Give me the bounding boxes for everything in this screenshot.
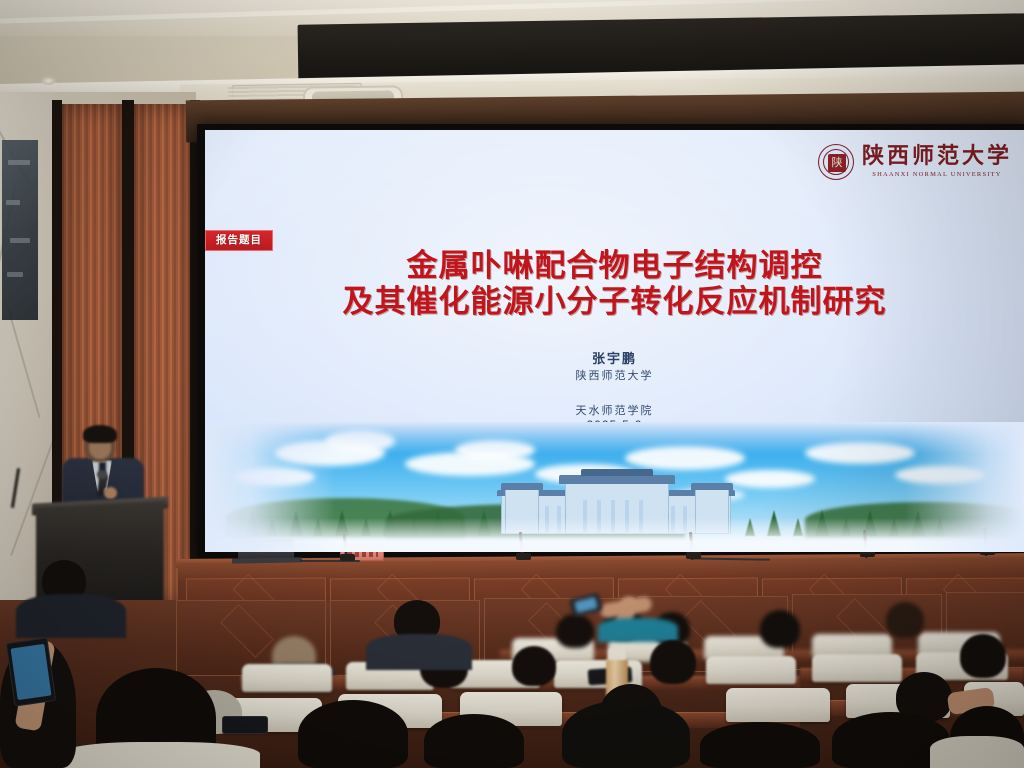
title-line-2: 及其催化能源小分子转化反应机制研究: [205, 284, 1024, 320]
wall-plaque: [2, 140, 38, 320]
audience-head: [760, 610, 800, 648]
audience-shoulders: [598, 618, 678, 642]
presenter-hand: [104, 487, 117, 499]
host-organization: 天水师范学院: [205, 403, 1024, 418]
building-pediment: [581, 469, 653, 476]
audience-shoulders: [366, 634, 472, 670]
title-line-1: 金属卟啉配合物电子结构调控: [205, 248, 1024, 284]
university-name-en: SHAANXI NORMAL UNIVERSITY: [862, 171, 1012, 178]
seal-character: 陕: [828, 154, 846, 172]
phone-screen: [11, 644, 52, 700]
audience-shoulders: [930, 736, 1024, 768]
chair-back: [812, 654, 902, 682]
bottle-cap: [608, 648, 626, 660]
audience-shoulders: [60, 742, 260, 768]
university-logo: 陕 陕西师范大学 SHAANXI NORMAL UNIVERSITY: [818, 144, 1012, 180]
audience-head: [424, 714, 524, 768]
audience-head: [886, 602, 924, 638]
microphone-head-icon: [97, 470, 107, 479]
plaque-mark: [6, 200, 20, 205]
presenter-hair: [83, 425, 117, 443]
audience-head: [562, 700, 690, 768]
building-wing-roof: [501, 483, 543, 490]
plaque-mark: [7, 272, 23, 277]
audience-head: [556, 614, 594, 648]
ceiling-spotlight-icon: [42, 78, 55, 85]
plaque-mark: [8, 160, 30, 165]
slide-title: 金属卟啉配合物电子结构调控 及其催化能源小分子转化反应机制研究: [205, 248, 1024, 320]
building-center-roof: [559, 475, 675, 484]
presenter-block: 张宇鹏 陕西师范大学 天水师范学院 2025-5-9: [205, 352, 1024, 433]
audience-head: [960, 634, 1006, 678]
presenter-name: 张宇鹏: [205, 352, 1024, 368]
audience-head: [700, 722, 820, 768]
chair-back: [706, 656, 796, 684]
audience-head: [298, 700, 408, 768]
plaque-mark: [10, 238, 30, 243]
presentation-slide: 陕 陕西师范大学 SHAANXI NORMAL UNIVERSITY 报告题目 …: [205, 130, 1024, 552]
microphone-base: [340, 554, 355, 561]
university-name-cn: 陕西师范大学: [862, 146, 1012, 168]
campus-photo-band: [205, 422, 1024, 552]
microphone-base: [516, 553, 531, 560]
chair-back: [726, 688, 830, 722]
audience-shoulders: [16, 594, 126, 638]
lecture-hall-photo: 陕 陕西师范大学 SHAANXI NORMAL UNIVERSITY 报告题目 …: [0, 0, 1024, 768]
chair-back: [242, 664, 332, 692]
university-seal-icon: 陕: [818, 144, 854, 180]
audience-head: [650, 640, 696, 684]
photo-top-fade: [205, 422, 1024, 454]
audience-head: [512, 646, 556, 686]
building-wing-roof: [691, 483, 733, 490]
presenter-organization: 陕西师范大学: [205, 368, 1024, 383]
microphone-base: [686, 552, 701, 559]
cloud: [725, 470, 815, 488]
mobile-phone: [222, 716, 268, 734]
